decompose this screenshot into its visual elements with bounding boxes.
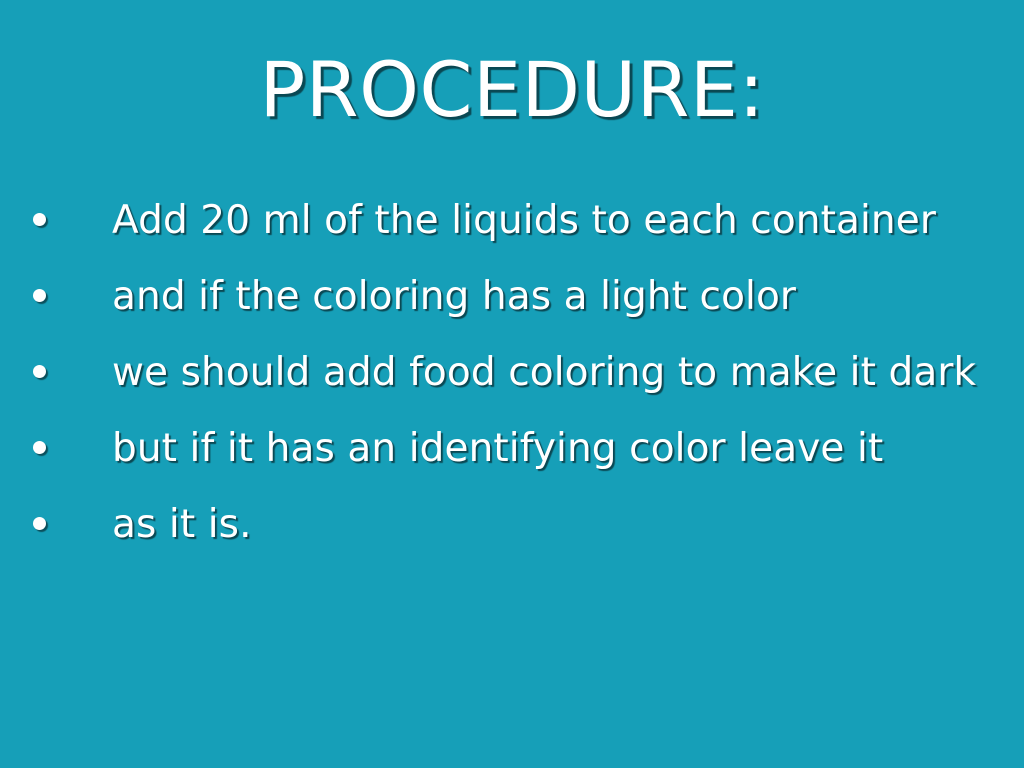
list-item-label: but if it has an identifying color leave… xyxy=(112,424,883,474)
list-item: as it is. xyxy=(0,500,1024,576)
procedure-bullet-list: Add 20 ml of the liquids to each contain… xyxy=(0,196,1024,576)
list-item: Add 20 ml of the liquids to each contain… xyxy=(0,196,1024,272)
list-item: but if it has an identifying color leave… xyxy=(0,424,1024,500)
bullet-dot-icon xyxy=(33,517,46,530)
bullet-dot-icon xyxy=(33,289,46,302)
bullet-dot-icon xyxy=(33,213,46,226)
list-item: and if the coloring has a light color xyxy=(0,272,1024,348)
list-item-label: and if the coloring has a light color xyxy=(112,272,796,322)
list-item-label: Add 20 ml of the liquids to each contain… xyxy=(112,196,936,246)
bullet-dot-icon xyxy=(33,365,46,378)
presentation-slide: PROCEDURE: Add 20 ml of the liquids to e… xyxy=(0,0,1024,768)
list-item-label: as it is. xyxy=(112,500,252,550)
list-item: we should add food coloring to make it d… xyxy=(0,348,1024,424)
page-title: PROCEDURE: xyxy=(0,52,1024,128)
bullet-dot-icon xyxy=(33,441,46,454)
list-item-label: we should add food coloring to make it d… xyxy=(112,348,976,398)
